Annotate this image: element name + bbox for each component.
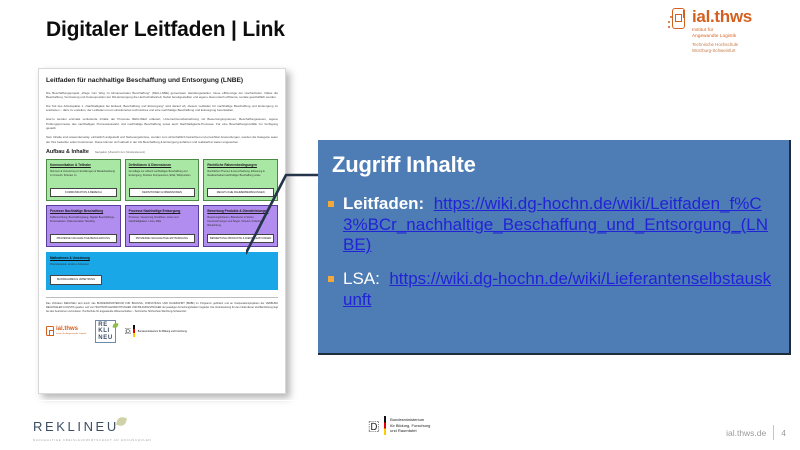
doc-card-title: Maßnahmen & Umsetzung <box>50 256 274 260</box>
logo-wordmark: ial.thws <box>692 8 752 25</box>
leaf-icon <box>116 416 127 427</box>
document-paragraph: Die Teil des Arbeitspaket 1 „Nachhaltigk… <box>46 104 278 113</box>
section-heading-text: Aufbau & Inhalte <box>46 149 89 155</box>
bullet-icon <box>328 276 334 282</box>
list-item: Leitfaden: https://wiki.dg-hochn.de/wiki… <box>324 194 775 256</box>
content-box-title: Zugriff Inhalte <box>332 152 775 178</box>
footer-logo-reklineu: REKLINEU NACHHALTIGE KREISLAUFWIRTSCHAFT… <box>33 418 151 442</box>
document-card-grid: Kommunikation & Teilhabe Stimmen & Verne… <box>46 159 278 247</box>
doc-card-button[interactable]: MASSNAHMEN & UMSETZUNG <box>50 275 102 285</box>
divider <box>46 297 278 298</box>
document-logo-row: ial.thws Institut für Angewandte Logisti… <box>46 320 278 343</box>
doc-logo-bmbf: 🇩 Bundesministerium für Bildung und Fors… <box>125 325 187 337</box>
doc-card-button[interactable]: RECHTLICHE RAHMENBEDINGUNGEN <box>207 188 274 198</box>
logo-sub-line-2: Angewandte Logistik <box>692 33 752 39</box>
footer-bmbf-text: Bundesministerium für Bildung, Forschung… <box>390 417 430 434</box>
document-title: Leitfaden für nachhaltige Beschaffung un… <box>46 76 278 86</box>
ial-thws-mark-icon <box>668 8 687 30</box>
doc-card[interactable]: Prozesse Nachhaltige Beschaffung Fallbet… <box>46 205 121 247</box>
document-paragraph: Hierzu werden erstmals vertiefende Inhal… <box>46 117 278 131</box>
doc-card-button[interactable]: BEWERTUNG PRODUKTE & DIENSTLEISTUNGEN <box>207 234 274 244</box>
slide: Digitaler Leitfaden | Link ial.thws Inst… <box>0 0 800 450</box>
doc-logo-ial-thws: ial.thws Institut für Angewandte Logisti… <box>46 326 86 336</box>
doc-card-title: Bewertung Produkte & Dienstleistungen <box>207 209 274 213</box>
list-item: LSA: https://wiki.dg-hochn.de/wiki/Liefe… <box>324 269 775 310</box>
ial-thws-mark-icon <box>46 326 54 336</box>
eagle-icon: 🇩 <box>125 328 131 335</box>
doc-card-button[interactable]: DEFINITIONEN & DIMENSIONEN <box>129 188 196 198</box>
footer-vertical-divider <box>773 425 774 440</box>
doc-card-body: Praxisbeispiele, konkret, Adressiert <box>50 263 274 267</box>
bullet-icon <box>328 201 334 207</box>
document-paragraph: Die Beschaffungsprojekt „Wege zum Weg zu… <box>46 91 278 100</box>
bmbf-line-2: für Bildung, Forschung <box>390 423 430 428</box>
document-thumbnail[interactable]: Leitfaden für nachhaltige Beschaffung un… <box>38 68 286 394</box>
footer-right: ial.thws.de 4 <box>726 425 786 440</box>
leaf-icon <box>113 323 119 329</box>
doc-card-body: Fallbetrachtung, Beschaffungsweg, Digita… <box>50 216 117 224</box>
doc-card-title: Prozesse Nachhaltige Entsorgung <box>129 209 196 213</box>
doc-card-body: Prozesse, Verwertung, Rückfluss, Lösen u… <box>129 216 196 224</box>
footer-logo-bmbf: 🇩 Bundesministerium für Bildung, Forschu… <box>368 416 430 435</box>
doc-card-button[interactable]: PROZESSE NACHHALTIGE BESCHAFFUNG <box>50 234 117 244</box>
link-lsa[interactable]: https://wiki.dg-hochn.de/wiki/Lieferante… <box>343 269 771 309</box>
bmbf-line-1: Bundesministerium <box>390 417 424 422</box>
doc-card-title: Definitionen & Dimensionen <box>129 163 196 167</box>
doc-card-title: Rechtliche Rahmenbedingungen <box>207 163 274 167</box>
doc-card-body: Rechtlichen Themen & Ausschreibung, Erfa… <box>207 170 274 178</box>
logo-sub-line-4: Würzburg-Schweinfurt <box>692 48 752 54</box>
doc-card-button[interactable]: KOMMUNIKATION & BEREICH <box>50 188 117 198</box>
document-paragraph: Sein Inhalte sind anwenderseitig- einhei… <box>46 135 278 144</box>
german-flag-icon <box>133 325 135 337</box>
doc-card-title: Prozesse Nachhaltige Beschaffung <box>50 209 117 213</box>
section-heading-note: Navigation (Übersicht zum Strukturelemen… <box>95 151 145 154</box>
doc-card-body: Grundlage zur ethisch nachhaltigen Besch… <box>129 170 196 178</box>
content-box-zugriff-inhalte: Zugriff Inhalte Leitfaden: https://wiki.… <box>318 140 791 355</box>
document-section-heading: Aufbau & Inhalte Navigation (Übersicht z… <box>46 149 278 155</box>
list-item-label: LSA: <box>343 269 380 288</box>
doc-card-body: Bewertungskriterien, Bilanzierter & Stuf… <box>207 216 274 227</box>
list-item-label: Leitfaden: <box>343 194 424 213</box>
page-number: 4 <box>781 428 786 438</box>
doc-logo-reklineu: REKLINEU <box>95 320 115 343</box>
doc-card[interactable]: Definitionen & Dimensionen Grundlage zur… <box>125 159 200 201</box>
doc-card-button[interactable]: PROZESSE NACHHALTIGE ENTSORGUNG <box>129 234 196 244</box>
doc-logo-wordmark: ial.thws <box>56 326 86 332</box>
doc-card-title: Kommunikation & Teilhabe <box>50 163 117 167</box>
footer-site-url: ial.thws.de <box>726 428 766 438</box>
page-title: Digitaler Leitfaden | Link <box>46 18 285 42</box>
german-flag-icon <box>384 416 387 435</box>
doc-card-body: Stimmen & Vernetzung zu Ermittlungen & W… <box>50 170 117 178</box>
doc-card[interactable]: Kommunikation & Teilhabe Stimmen & Verne… <box>46 159 121 201</box>
eagle-icon: 🇩 <box>368 419 380 432</box>
doc-logo-bmbf-text: Bundesministerium für Bildung und Forsch… <box>138 330 187 333</box>
doc-card[interactable]: Prozesse Nachhaltige Entsorgung Prozesse… <box>125 205 200 247</box>
doc-card[interactable]: Rechtliche Rahmenbedingungen Rechtlichen… <box>203 159 278 201</box>
doc-card[interactable]: Bewertung Produkte & Dienstleistungen Be… <box>203 205 278 247</box>
doc-card-measures[interactable]: Maßnahmen & Umsetzung Praxisbeispiele, k… <box>46 252 278 290</box>
bmbf-line-3: und Raumfahrt <box>390 428 416 433</box>
footer-reklineu-word: REKLINEU <box>33 420 119 433</box>
document-footnote: Das Vorhaben REKLINEU wird durch das BUN… <box>46 302 278 314</box>
footer-reklineu-tagline: NACHHALTIGE KREISLAUFWIRTSCHAFT AN HOCHS… <box>33 438 151 442</box>
doc-logo-sub: Institut für Angewandte Logistik <box>56 333 86 336</box>
footer-divider <box>0 400 800 401</box>
header-logo-ial-thws: ial.thws Institut für Angewandte Logisti… <box>668 8 788 54</box>
